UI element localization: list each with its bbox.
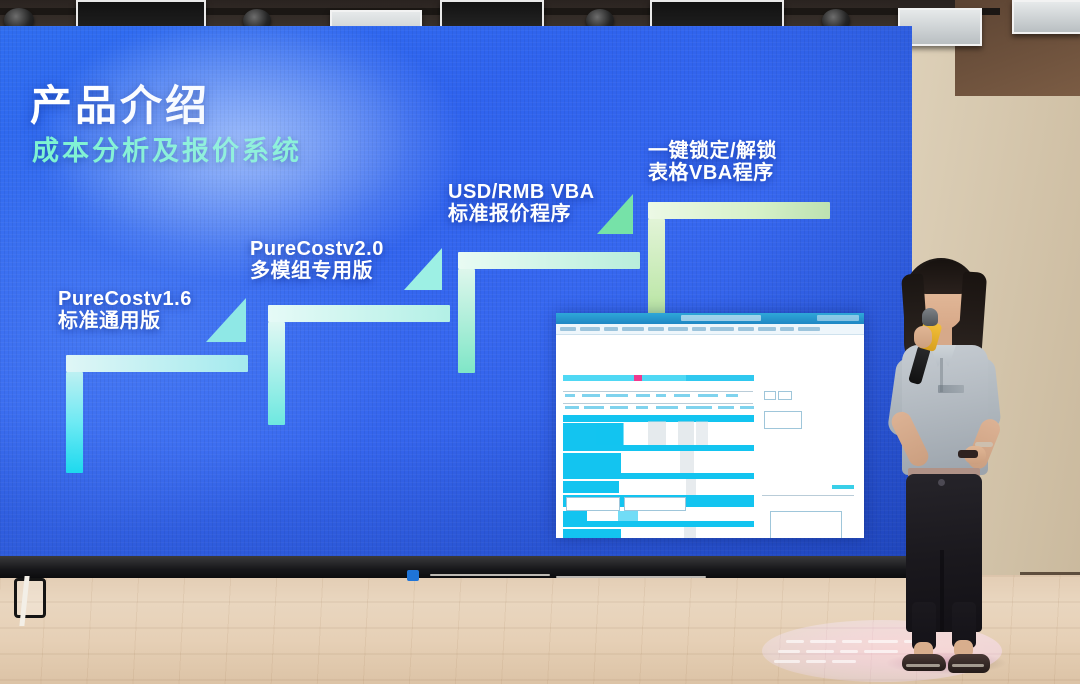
stage-equipment-box bbox=[407, 570, 419, 581]
presentation-clicker[interactable] bbox=[958, 450, 978, 458]
presenter-hand-left bbox=[914, 326, 932, 348]
spreadsheet-cell bbox=[686, 406, 712, 409]
spreadsheet-section-header bbox=[563, 521, 754, 527]
spreadsheet-cell bbox=[698, 394, 718, 397]
spreadsheet-cell bbox=[718, 406, 734, 409]
spreadsheet-title-bar bbox=[556, 313, 864, 324]
spreadsheet-value-col bbox=[686, 479, 696, 495]
floor-cable-1 bbox=[430, 574, 550, 576]
spreadsheet-cell bbox=[656, 394, 666, 397]
spreadsheet-grid bbox=[556, 335, 864, 538]
spreadsheet-cell bbox=[656, 406, 678, 409]
shoe-stud-row-right bbox=[952, 664, 984, 667]
left-floor-stand bbox=[14, 578, 46, 618]
embedded-spreadsheet-screenshot bbox=[556, 313, 864, 538]
stage-light-fixture-6 bbox=[1012, 0, 1080, 34]
spreadsheet-subtable bbox=[624, 497, 686, 511]
spreadsheet-cell bbox=[584, 406, 604, 409]
spreadsheet-cell bbox=[565, 406, 579, 409]
spreadsheet-cell bbox=[726, 394, 738, 397]
spreadsheet-right-chart bbox=[770, 511, 842, 538]
spreadsheet-subtable bbox=[566, 497, 620, 511]
spreadsheet-window-controls bbox=[817, 315, 859, 321]
spreadsheet-cell bbox=[636, 406, 648, 409]
spreadsheet-cell bbox=[674, 394, 690, 397]
presenter-trouser-seam bbox=[940, 550, 944, 632]
spreadsheet-cell bbox=[565, 394, 575, 397]
shoe-stud-row-left bbox=[906, 664, 940, 667]
spreadsheet-data-block bbox=[563, 481, 619, 493]
spreadsheet-value-col bbox=[684, 527, 696, 538]
spreadsheet-rule bbox=[563, 391, 753, 392]
spreadsheet-data-block bbox=[563, 511, 587, 521]
presenter-trouser-button bbox=[938, 479, 945, 486]
spreadsheet-right-accent bbox=[832, 485, 854, 489]
presenter-shirt-logo bbox=[938, 385, 964, 393]
spreadsheet-data-block bbox=[563, 529, 621, 538]
spreadsheet-right-panel bbox=[764, 411, 802, 429]
spreadsheet-ribbon bbox=[556, 324, 864, 335]
spreadsheet-header-band-2 bbox=[634, 375, 642, 381]
spreadsheet-right-rule bbox=[762, 495, 854, 496]
microphone-head bbox=[922, 308, 938, 326]
presentation-photo: 产品介绍 成本分析及报价系统 PureCostv1.6 标准通用版 PureCo… bbox=[0, 0, 1080, 684]
spreadsheet-cell bbox=[582, 394, 600, 397]
spreadsheet-header-band-3 bbox=[686, 375, 754, 381]
spreadsheet-title-text bbox=[681, 315, 761, 321]
presenter bbox=[880, 250, 1010, 680]
spreadsheet-section-header bbox=[563, 445, 754, 451]
spreadsheet-cell bbox=[610, 406, 628, 409]
spreadsheet-data-block bbox=[563, 453, 621, 475]
spreadsheet-right-checkbox-2[interactable] bbox=[778, 391, 792, 400]
spreadsheet-rule bbox=[563, 403, 753, 404]
floor-cable-2 bbox=[556, 576, 706, 578]
spreadsheet-right-checkbox[interactable] bbox=[764, 391, 776, 400]
spreadsheet-cell bbox=[740, 406, 754, 409]
spreadsheet-cell bbox=[606, 394, 628, 397]
spreadsheet-data-block bbox=[618, 511, 638, 521]
spreadsheet-cell bbox=[636, 394, 650, 397]
presenter-shoe-left bbox=[902, 654, 946, 671]
spreadsheet-section-header bbox=[563, 473, 754, 479]
